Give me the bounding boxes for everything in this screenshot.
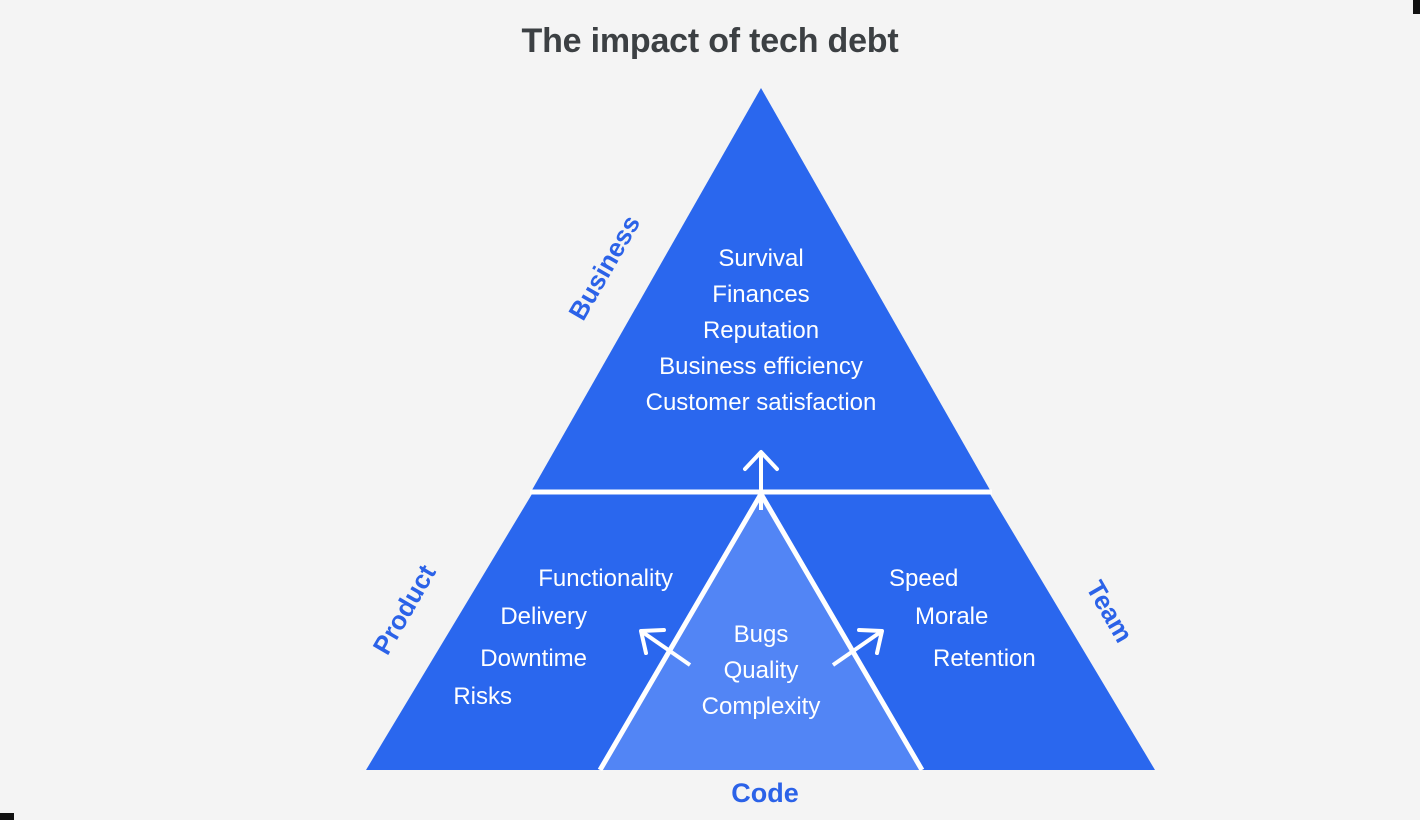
business-item-2: Reputation (703, 317, 819, 344)
team-item-2: Retention (933, 645, 1036, 672)
business-item-4: Customer satisfaction (646, 389, 877, 416)
side-label-product: Product (367, 559, 442, 659)
corner-mark-top-right (1413, 0, 1420, 14)
side-label-team: Team (1080, 575, 1139, 647)
business-item-3: Business efficiency (659, 353, 863, 380)
code-item-2: Complexity (702, 693, 821, 720)
page-title: The impact of tech debt (0, 22, 1420, 61)
product-item-0: Functionality (538, 565, 673, 592)
corner-mark-bottom-left (0, 813, 14, 820)
pyramid-svg: Survival Finances Reputation Business ef… (0, 0, 1420, 820)
base-label-code: Code (731, 778, 799, 808)
product-item-1: Delivery (500, 603, 587, 630)
diagram-canvas: The impact of tech debt (0, 0, 1420, 820)
business-item-1: Finances (712, 281, 809, 308)
product-item-3: Risks (453, 683, 512, 710)
code-item-0: Bugs (734, 621, 789, 648)
business-item-0: Survival (718, 245, 803, 272)
team-item-1: Morale (915, 603, 988, 630)
code-item-1: Quality (724, 657, 799, 684)
side-label-business: Business (562, 210, 646, 325)
team-item-0: Speed (889, 565, 958, 592)
product-item-2: Downtime (480, 645, 587, 672)
